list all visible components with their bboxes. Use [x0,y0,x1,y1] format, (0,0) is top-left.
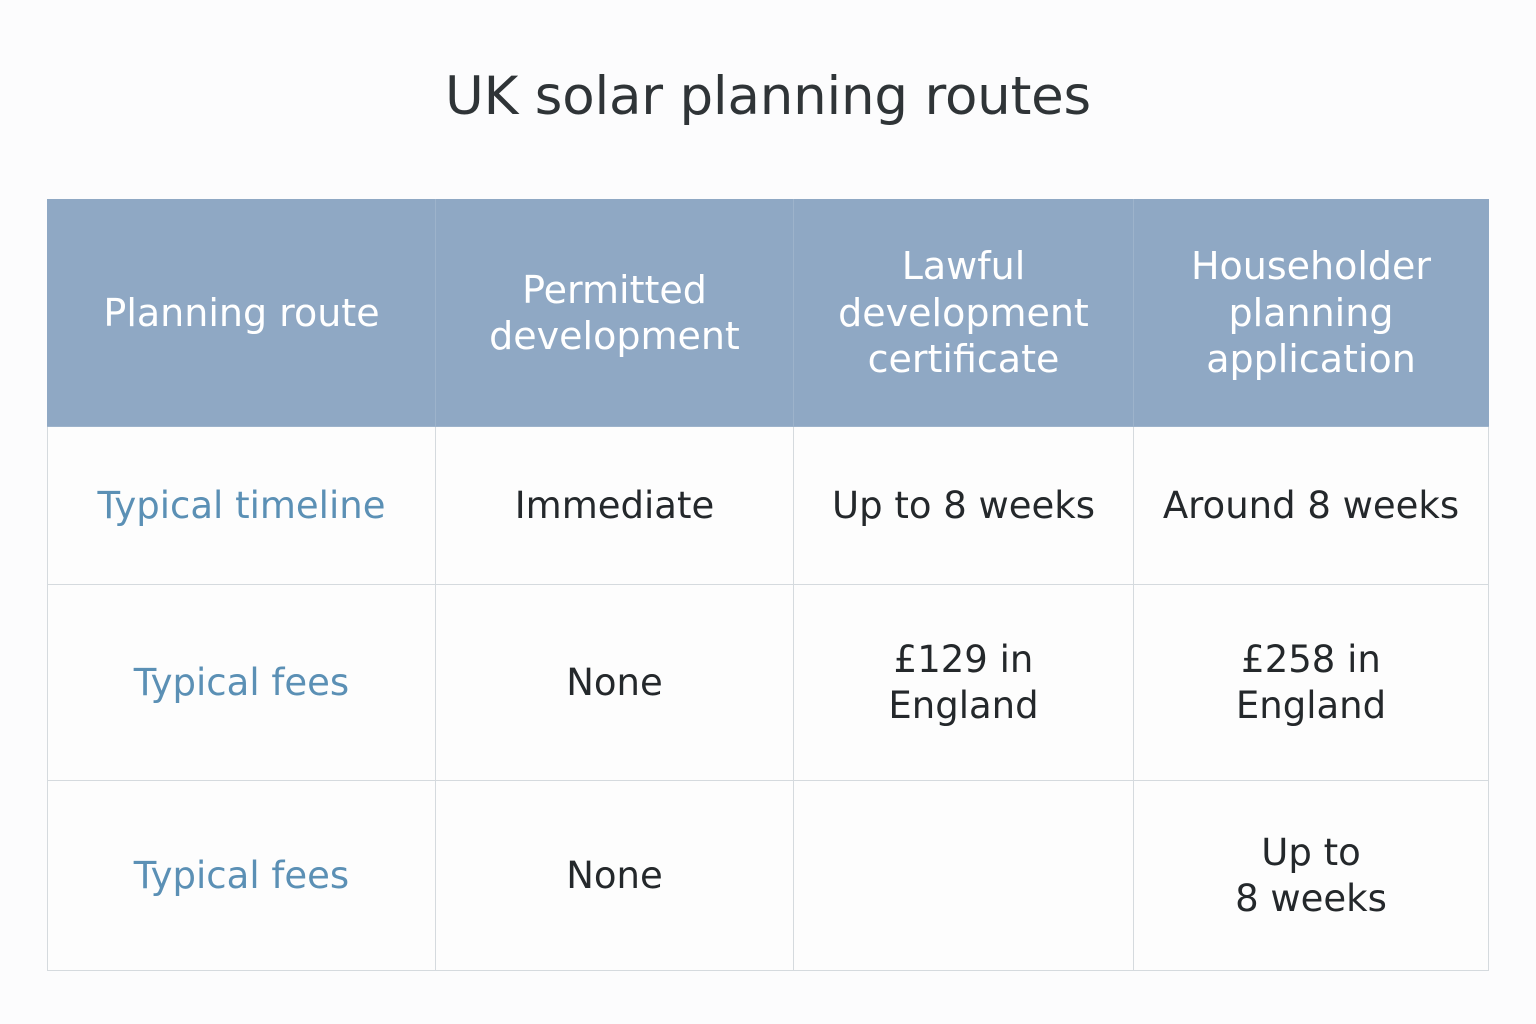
table-row: Typical timeline Immediate Up to 8 weeks… [48,427,1489,585]
column-header-householder-planning-application-line1: Householder [1148,243,1474,289]
cell-fees-householder-planning-application-line1: £258 in [1148,637,1474,682]
column-header-householder-planning-application-line2: planning [1148,290,1474,336]
column-header-permitted-development-line1: Permitted [450,267,779,313]
table-header-row: Planning route Permitted development Law… [48,200,1489,427]
column-header-planning-route: Planning route [48,200,436,427]
cell-fees-permitted-development: None [436,585,794,781]
column-header-lawful-development-certificate-line2: development [808,290,1119,336]
table-body: Typical timeline Immediate Up to 8 weeks… [48,427,1489,971]
column-header-lawful-development-certificate: Lawful development certificate [794,200,1134,427]
cell-fees2-permitted-development: None [436,781,794,971]
cell-fees-householder-planning-application: £258 in England [1134,585,1489,781]
column-header-permitted-development: Permitted development [436,200,794,427]
table-row: Typical fees None Up to 8 weeks [48,781,1489,971]
column-header-lawful-development-certificate-line3: certificate [808,336,1119,382]
cell-fees-lawful-development-certificate-line2: England [808,683,1119,728]
cell-fees2-householder-planning-application-line1: Up to [1148,830,1474,875]
table-row: Typical fees None £129 in England £258 i… [48,585,1489,781]
planning-routes-table: Planning route Permitted development Law… [47,199,1489,971]
page-title: UK solar planning routes [0,68,1536,126]
cell-fees-lawful-development-certificate: £129 in England [794,585,1134,781]
column-header-permitted-development-line2: development [450,313,779,359]
column-header-lawful-development-certificate-line1: Lawful [808,243,1119,289]
column-header-planning-route-line1: Planning route [62,290,421,336]
cell-timeline-permitted-development: Immediate [436,427,794,585]
cell-timeline-lawful-development-certificate: Up to 8 weeks [794,427,1134,585]
cell-fees2-householder-planning-application: Up to 8 weeks [1134,781,1489,971]
row-label-typical-timeline: Typical timeline [48,427,436,585]
cell-timeline-householder-planning-application: Around 8 weeks [1134,427,1489,585]
cell-fees-lawful-development-certificate-line1: £129 in [808,637,1119,682]
page-root: UK solar planning routes Planning route … [0,0,1536,1024]
column-header-householder-planning-application: Householder planning application [1134,200,1489,427]
cell-fees2-lawful-development-certificate [794,781,1134,971]
cell-fees-householder-planning-application-line2: England [1148,683,1474,728]
row-label-typical-fees-1: Typical fees [48,585,436,781]
cell-fees2-householder-planning-application-line2: 8 weeks [1148,876,1474,921]
table-header: Planning route Permitted development Law… [48,200,1489,427]
comparison-table-container: Planning route Permitted development Law… [47,199,1488,965]
column-header-householder-planning-application-line3: application [1148,336,1474,382]
row-label-typical-fees-2: Typical fees [48,781,436,971]
